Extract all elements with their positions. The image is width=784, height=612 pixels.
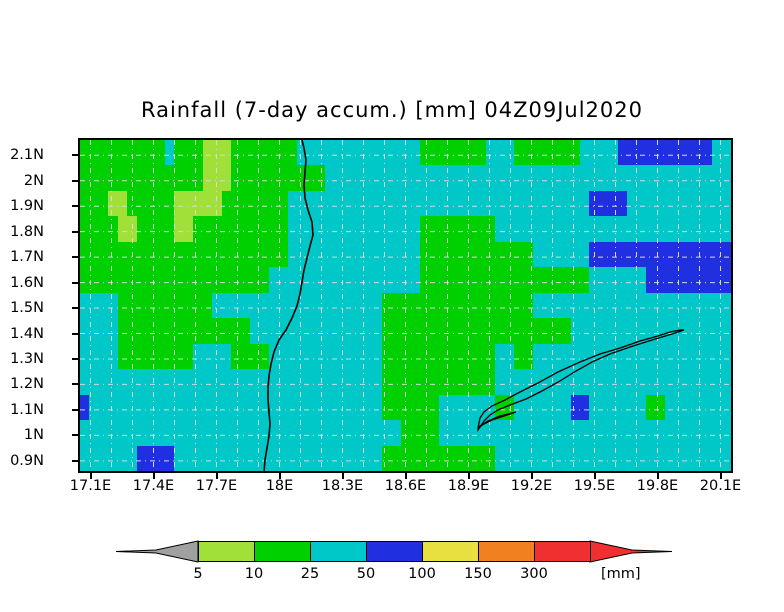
y-axis-tick: [72, 282, 78, 284]
colorbar-tick: 300: [520, 566, 548, 582]
y-axis-tick: [72, 409, 78, 411]
colorbar-low-arrow: [116, 541, 198, 562]
x-axis-label: 19.5E: [574, 478, 615, 494]
colorbar-tick: 25: [301, 566, 319, 582]
y-axis-label: 2N: [24, 173, 44, 189]
x-axis-label: 17.4E: [133, 478, 174, 494]
colorbar-segment[interactable]: [422, 541, 479, 562]
y-axis-tick: [72, 205, 78, 207]
colorbar-tick: 100: [408, 566, 436, 582]
y-axis-label: 1.6N: [10, 275, 44, 291]
figure-title: Rainfall (7-day accum.) [mm] 04Z09Jul202…: [0, 98, 784, 122]
x-axis-tick: [405, 473, 407, 479]
x-axis-tick: [90, 473, 92, 479]
x-axis-tick: [153, 473, 155, 479]
y-axis-tick: [72, 307, 78, 309]
x-axis-label: 18.9E: [448, 478, 489, 494]
y-axis-label: 1.3N: [10, 351, 44, 367]
colorbar-segment[interactable]: [310, 541, 367, 562]
colorbar-segment[interactable]: [254, 541, 311, 562]
y-axis-label: 1.5N: [10, 300, 44, 316]
y-axis-tick: [72, 383, 78, 385]
colorbar-segment[interactable]: [478, 541, 535, 562]
x-axis-tick: [657, 473, 659, 479]
map-plot-area[interactable]: [78, 138, 733, 473]
colorbar[interactable]: 5102550100150300 [mm]: [0, 533, 784, 593]
y-axis-label: 0.9N: [10, 453, 44, 469]
x-axis-label: 18.3E: [322, 478, 363, 494]
x-axis-label: 17.7E: [196, 478, 237, 494]
y-axis-tick: [72, 434, 78, 436]
river-line: [263, 140, 313, 473]
y-axis-label: 1.8N: [10, 224, 44, 240]
colorbar-unit-label: [mm]: [601, 566, 641, 582]
y-axis-tick: [72, 180, 78, 182]
x-axis-tick: [216, 473, 218, 479]
x-axis-label: 19.8E: [637, 478, 678, 494]
x-axis-tick: [468, 473, 470, 479]
x-axis-label: 17.1E: [70, 478, 111, 494]
x-axis-label: 18E: [266, 478, 294, 494]
colorbar-tick: 10: [245, 566, 263, 582]
coastline-overlay: [80, 140, 731, 473]
y-axis-label: 1.4N: [10, 326, 44, 342]
x-axis-tick: [720, 473, 722, 479]
colorbar-segment[interactable]: [198, 541, 255, 562]
y-axis-label: 2.1N: [10, 147, 44, 163]
y-axis-tick: [72, 256, 78, 258]
y-axis-tick: [72, 358, 78, 360]
y-axis-tick: [72, 154, 78, 156]
colorbar-tick: 50: [357, 566, 375, 582]
rainfall-map-figure: Rainfall (7-day accum.) [mm] 04Z09Jul202…: [0, 0, 784, 612]
y-axis-label: 1.7N: [10, 249, 44, 265]
y-axis-label: 1.9N: [10, 198, 44, 214]
y-axis-label: 1.2N: [10, 376, 44, 392]
x-axis-tick: [279, 473, 281, 479]
lake-outline: [478, 330, 684, 430]
y-axis-label: 1.1N: [10, 402, 44, 418]
x-axis-tick: [342, 473, 344, 479]
y-axis-tick: [72, 460, 78, 462]
x-axis-label: 19.2E: [511, 478, 552, 494]
colorbar-high-arrow: [590, 541, 672, 562]
x-axis-label: 20.1E: [700, 478, 741, 494]
y-axis-tick: [72, 231, 78, 233]
x-axis-label: 18.6E: [385, 478, 426, 494]
colorbar-segment[interactable]: [366, 541, 423, 562]
x-axis-tick: [594, 473, 596, 479]
y-axis-label: 1N: [24, 427, 44, 443]
colorbar-tick: 5: [193, 566, 202, 582]
y-axis-tick: [72, 333, 78, 335]
colorbar-tick: 150: [464, 566, 492, 582]
colorbar-segment[interactable]: [534, 541, 591, 562]
x-axis-tick: [531, 473, 533, 479]
